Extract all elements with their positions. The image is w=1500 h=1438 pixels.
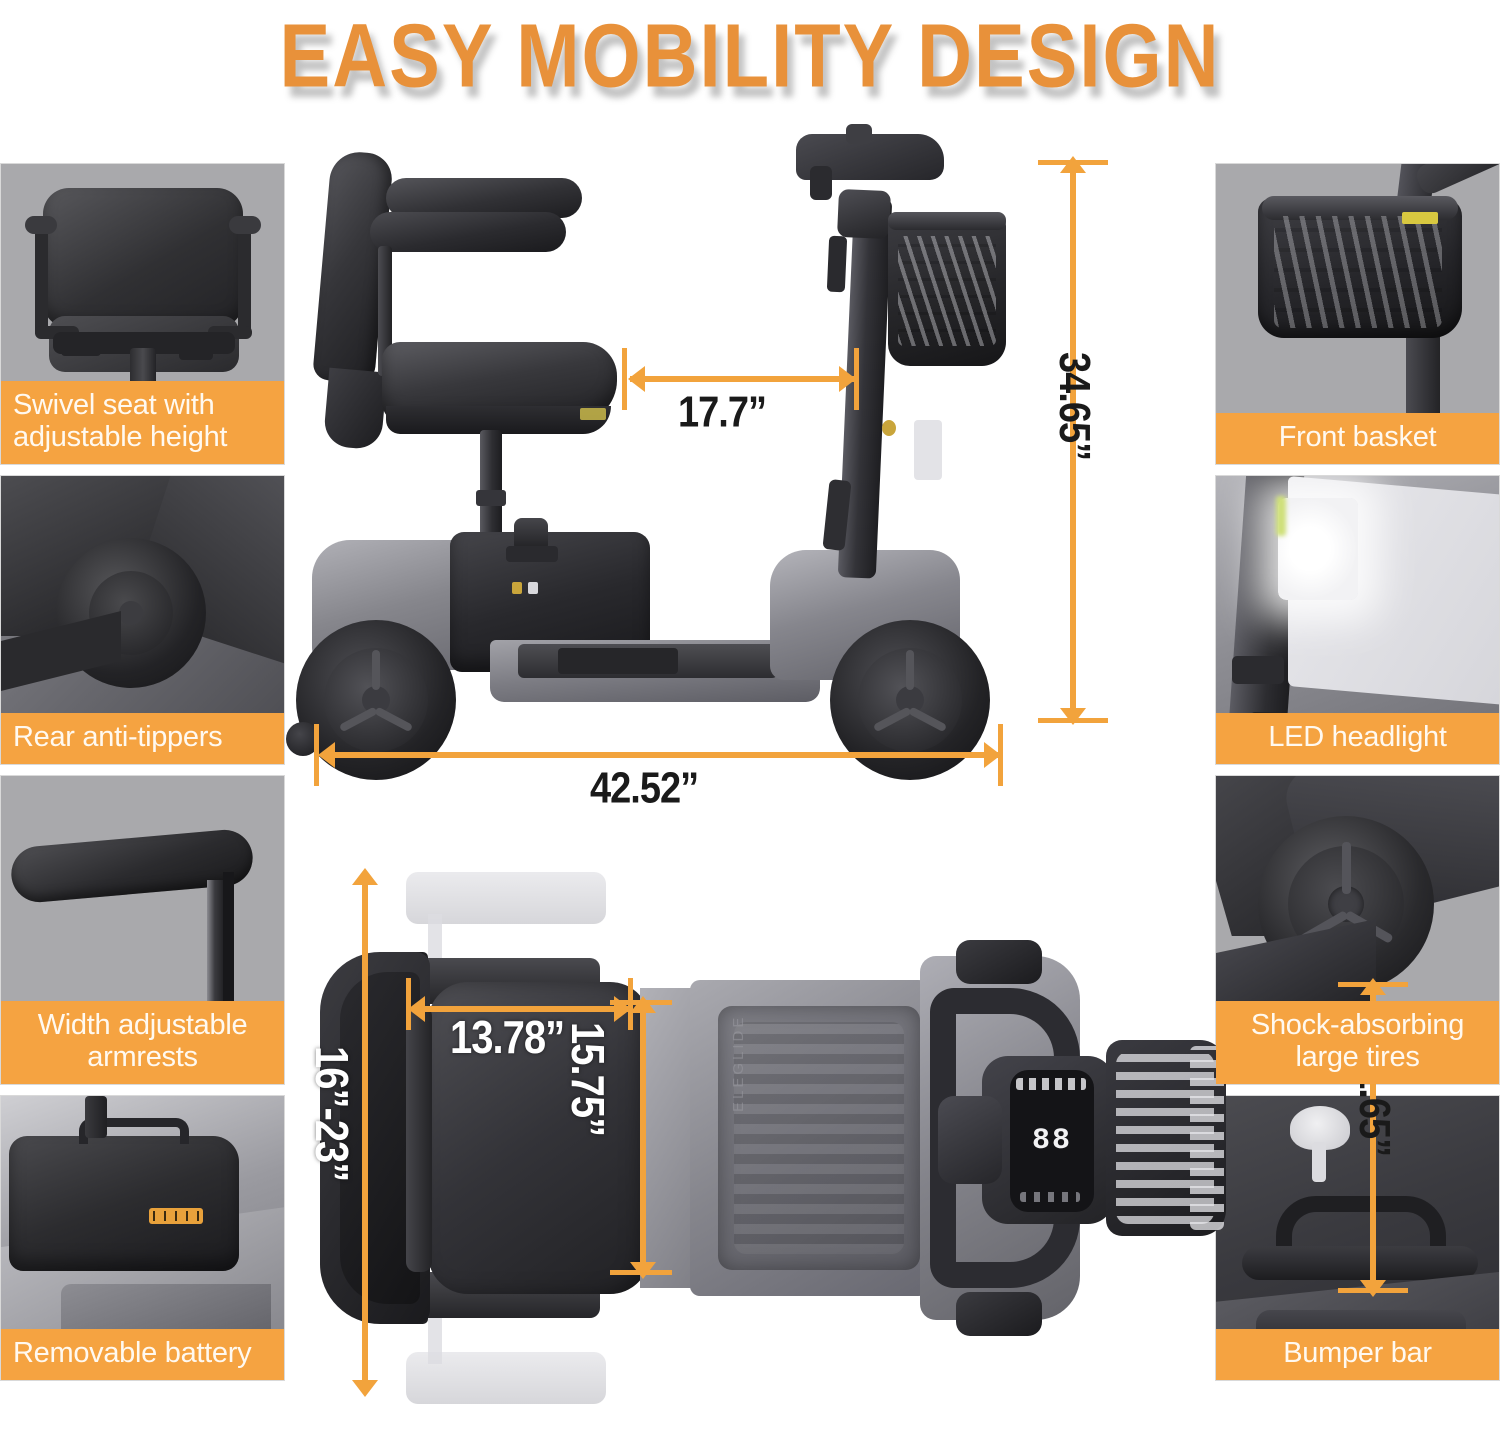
- dimension-label-17-7: 17.7”: [678, 389, 766, 438]
- caption-line-1: Removable battery: [13, 1337, 251, 1369]
- scooter-side-view: 17.7” 34.65” 42.52”: [290, 120, 1050, 740]
- deck-brand-text: ELEGLIDE: [730, 982, 756, 1112]
- display-value: 88: [1032, 1124, 1072, 1158]
- caption-line-1: Swivel seat with: [13, 389, 215, 421]
- caption-line-1: Bumper bar: [1283, 1337, 1432, 1369]
- caption-line-1: Front basket: [1279, 421, 1437, 453]
- feature-panel-battery[interactable]: Removable battery: [0, 1095, 285, 1381]
- right-feature-column: Front basket LED headlight: [1215, 163, 1500, 1391]
- center-stage: 17.7” 34.65” 42.52”: [290, 120, 1210, 1430]
- caption-line-1: Shock-absorbing: [1251, 1009, 1464, 1041]
- dimension-label-42-52: 42.52”: [590, 765, 698, 814]
- caption-line-2: armrests: [87, 1041, 197, 1073]
- caption-anti-tippers: Rear anti-tippers: [1, 713, 284, 764]
- caption-line-1: Rear anti-tippers: [13, 721, 222, 753]
- feature-panel-led-headlight[interactable]: LED headlight: [1215, 475, 1500, 765]
- feature-panel-swivel-seat[interactable]: Swivel seat with adjustable height: [0, 163, 285, 465]
- feature-panel-anti-tippers[interactable]: Rear anti-tippers: [0, 475, 285, 765]
- feature-panel-large-tires[interactable]: Shock-absorbing large tires: [1215, 775, 1500, 1085]
- page-header: EASY MOBILITY DESIGN: [0, 0, 1500, 112]
- left-feature-column: Swivel seat with adjustable height Rear …: [0, 163, 285, 1391]
- caption-large-tires: Shock-absorbing large tires: [1216, 1001, 1499, 1084]
- throttle-paddle: [938, 1096, 1002, 1184]
- caption-battery: Removable battery: [1, 1329, 284, 1380]
- dimension-label-15-75: 15.75”: [560, 1022, 612, 1136]
- display-screen: 88: [1010, 1070, 1094, 1212]
- dimension-label-16-23: 16”-23”: [304, 1046, 356, 1181]
- caption-bumper-bar: Bumper bar: [1216, 1329, 1499, 1380]
- feature-panel-front-basket[interactable]: Front basket: [1215, 163, 1500, 465]
- dimension-label-13-78: 13.78”: [450, 1013, 564, 1065]
- caption-swivel-seat: Swivel seat with adjustable height: [1, 381, 284, 464]
- caption-front-basket: Front basket: [1216, 413, 1499, 464]
- caption-led-headlight: LED headlight: [1216, 713, 1499, 764]
- seat-post: [480, 430, 502, 538]
- caption-armrests: Width adjustable armrests: [1, 1001, 284, 1084]
- caption-line-2: large tires: [1295, 1041, 1419, 1073]
- dimension-label-34-65: 34.65”: [1049, 352, 1098, 460]
- caption-line-1: Width adjustable: [38, 1009, 248, 1041]
- armrest-lower: [370, 212, 566, 252]
- caption-line-1: LED headlight: [1268, 721, 1446, 753]
- scooter-top-view: ELEGLIDE 88 16”-23”: [310, 860, 1170, 1420]
- feature-panel-armrests[interactable]: Width adjustable armrests: [0, 775, 285, 1085]
- caption-line-2: adjustable height: [13, 421, 227, 453]
- page-title: EASY MOBILITY DESIGN: [280, 5, 1221, 108]
